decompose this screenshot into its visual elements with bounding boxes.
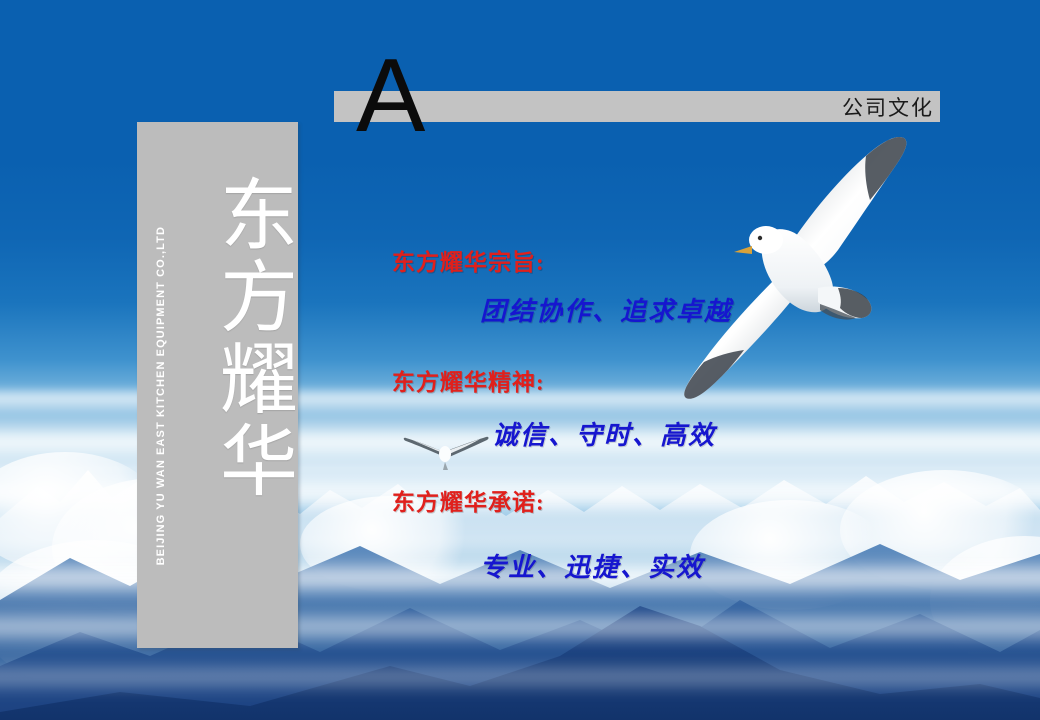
slide-company-culture: 公司文化 A 东方耀华 BEIJING YU WAN EAST KITCHEN …: [0, 0, 1040, 720]
brand-name-english: BEIJING YU WAN EAST KITCHEN EQUIPMENT CO…: [155, 226, 167, 565]
brand-name-chinese: 东方耀华: [188, 174, 296, 502]
section-letter: A: [356, 44, 425, 148]
brand-side-panel: 东方耀华 BEIJING YU WAN EAST KITCHEN EQUIPME…: [137, 122, 298, 648]
page-title: 公司文化: [842, 92, 940, 122]
